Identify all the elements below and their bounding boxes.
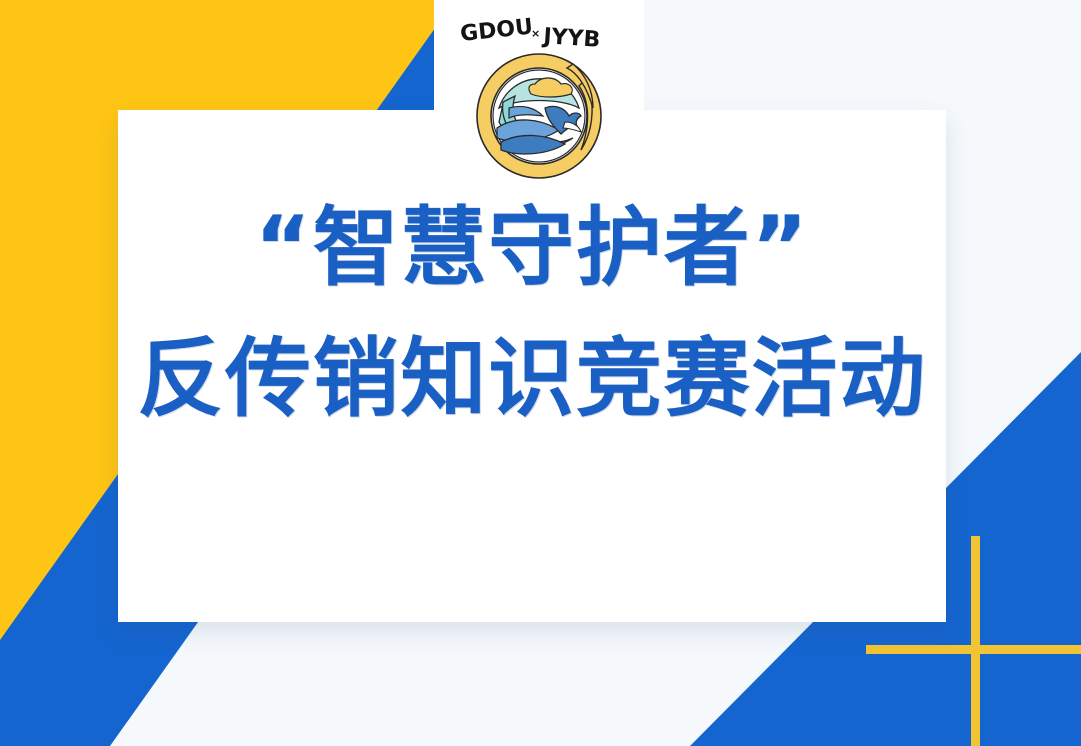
- wave-crescent-emblem-icon: [469, 46, 609, 186]
- organization-logo: GDOU × JYYB: [434, 0, 644, 195]
- page-title-line-1: “智慧守护者”: [118, 196, 946, 301]
- svg-text:GDOU: GDOU: [459, 16, 534, 47]
- logo-wordmark-icon: GDOU × JYYB: [459, 16, 619, 50]
- page-title-line-2: 反传销知识竞赛活动: [118, 327, 946, 432]
- poster-canvas: GDOU × JYYB: [0, 0, 1081, 746]
- title-block: “智慧守护者” 反传销知识竞赛活动: [118, 196, 946, 432]
- svg-text:×: ×: [531, 27, 540, 40]
